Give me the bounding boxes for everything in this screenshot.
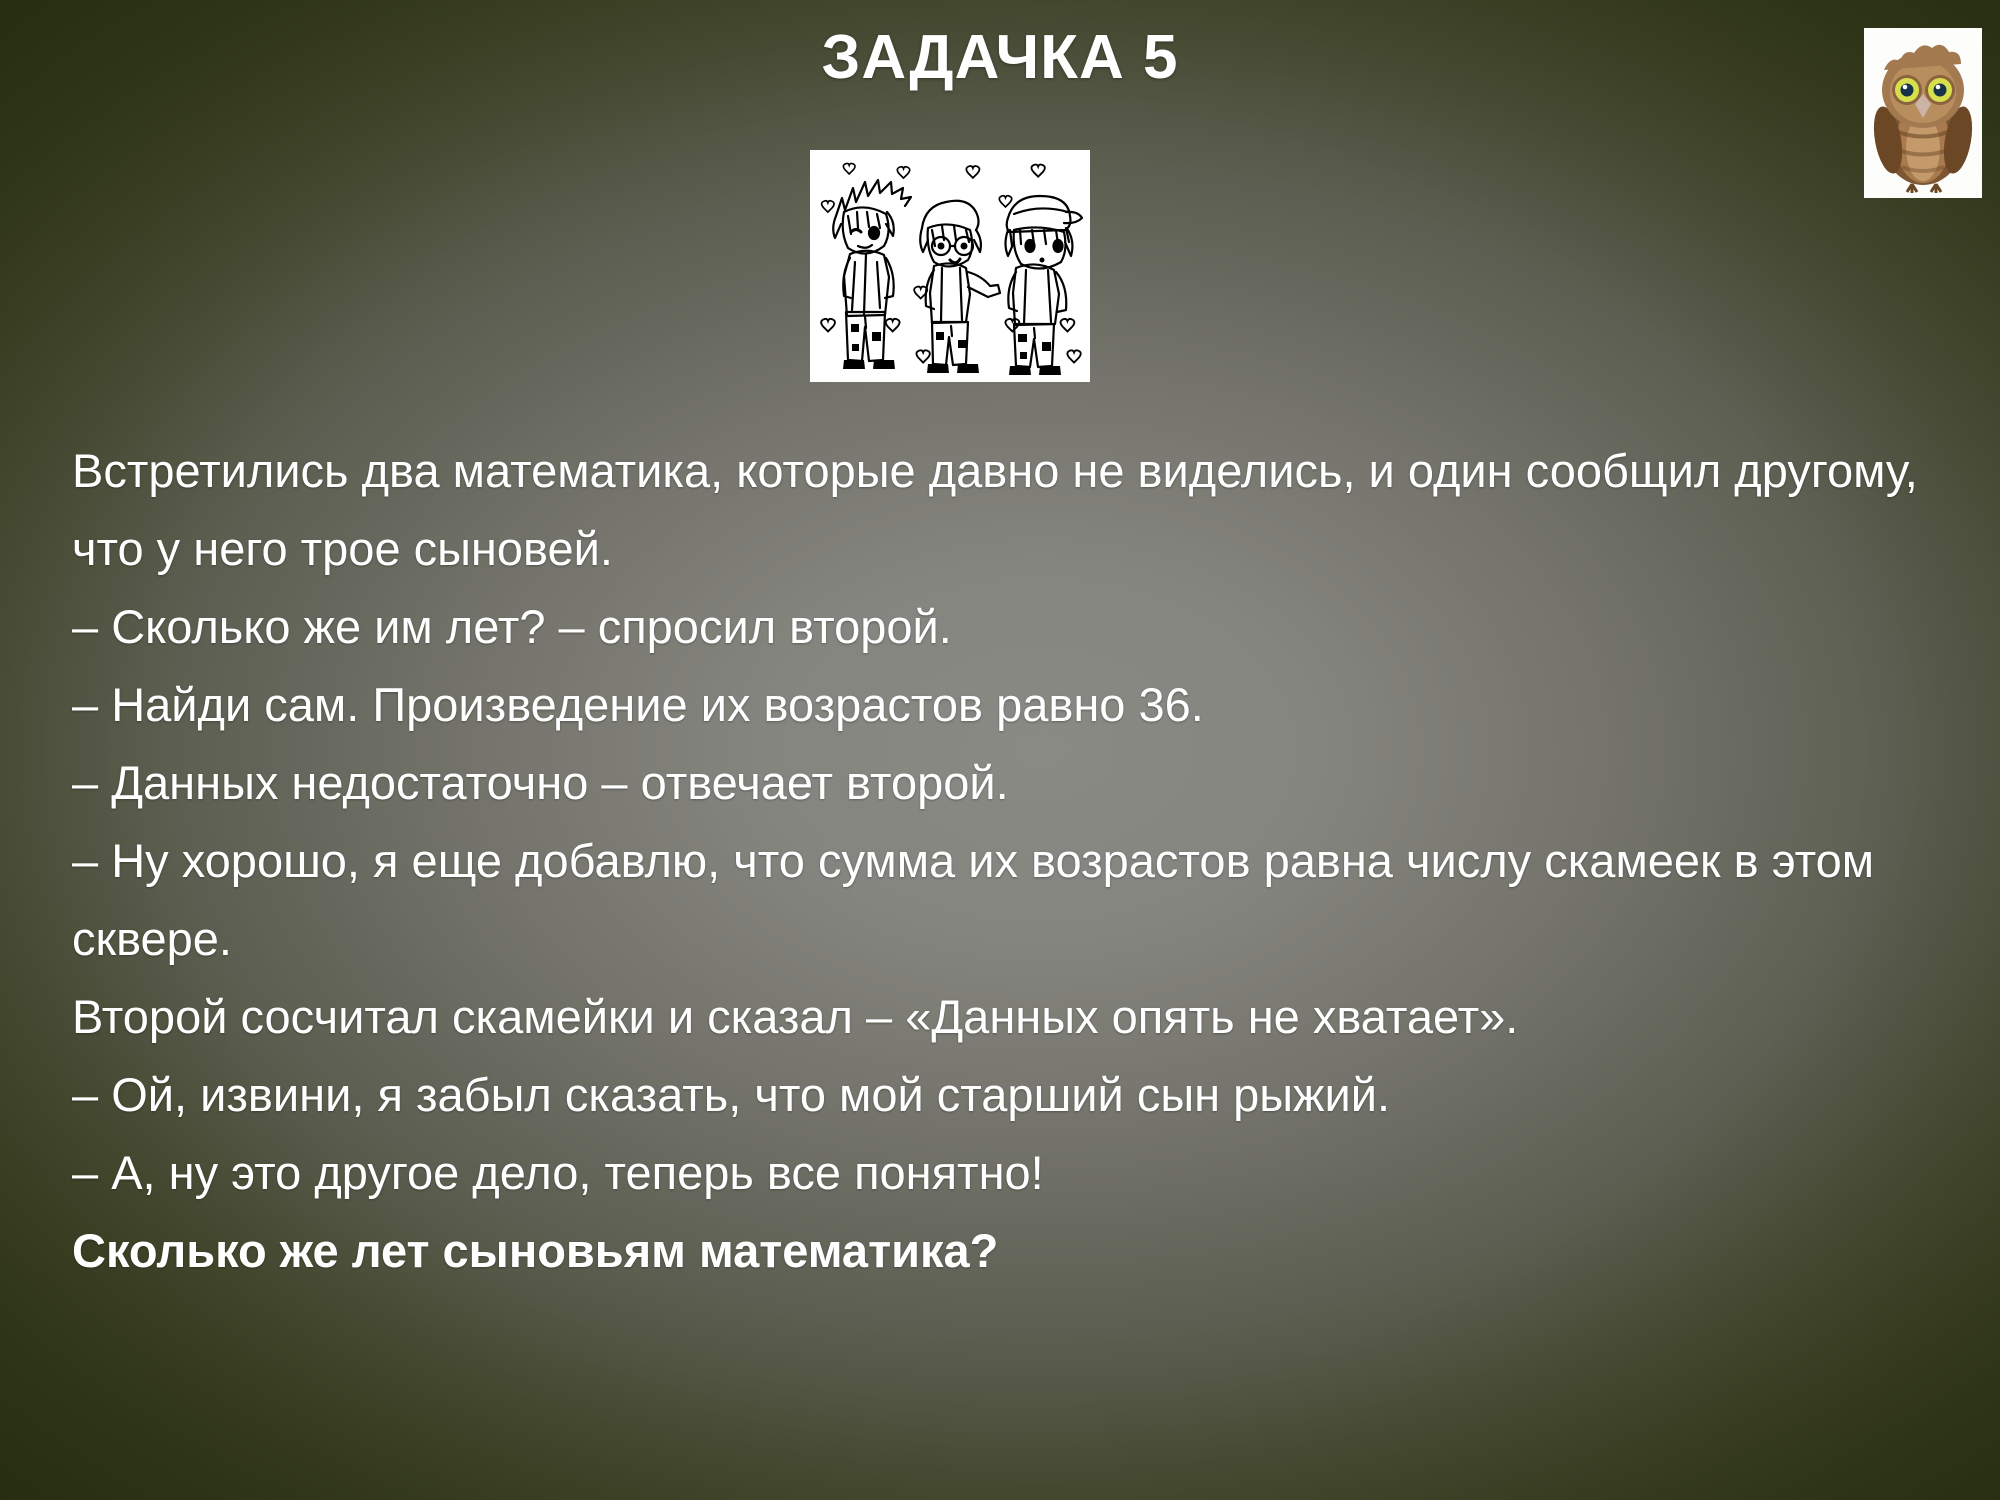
text-line-1: Встретились два математика, которые давн… — [72, 432, 1960, 588]
text-line-8: – А, ну это другое дело, теперь все поня… — [72, 1134, 1960, 1212]
text-line-5: – Ну хорошо, я еще добавлю, что сумма их… — [72, 822, 1960, 978]
problem-text: Встретились два математика, которые давн… — [72, 432, 1960, 1290]
page-title: ЗАДАЧКА 5 — [0, 22, 2000, 93]
slide-canvas: ЗАДАЧКА 5 — [0, 0, 2000, 1500]
text-line-6: Второй сосчитал скамейки и сказал – «Дан… — [72, 978, 1960, 1056]
owl-icon — [1864, 28, 1982, 198]
three-boys-sketch-icon — [810, 150, 1090, 382]
text-line-2: – Сколько же им лет? – спросил второй. — [72, 588, 1960, 666]
text-line-3: – Найди сам. Произведение их возрастов р… — [72, 666, 1960, 744]
text-line-question: Сколько же лет сыновьям математика? — [72, 1212, 1960, 1290]
text-line-4: – Данных недостаточно – отвечает второй. — [72, 744, 1960, 822]
boys-sketch-frame — [810, 150, 1090, 382]
text-line-7: – Ой, извини, я забыл сказать, что мой с… — [72, 1056, 1960, 1134]
owl-image-frame — [1864, 28, 1982, 198]
